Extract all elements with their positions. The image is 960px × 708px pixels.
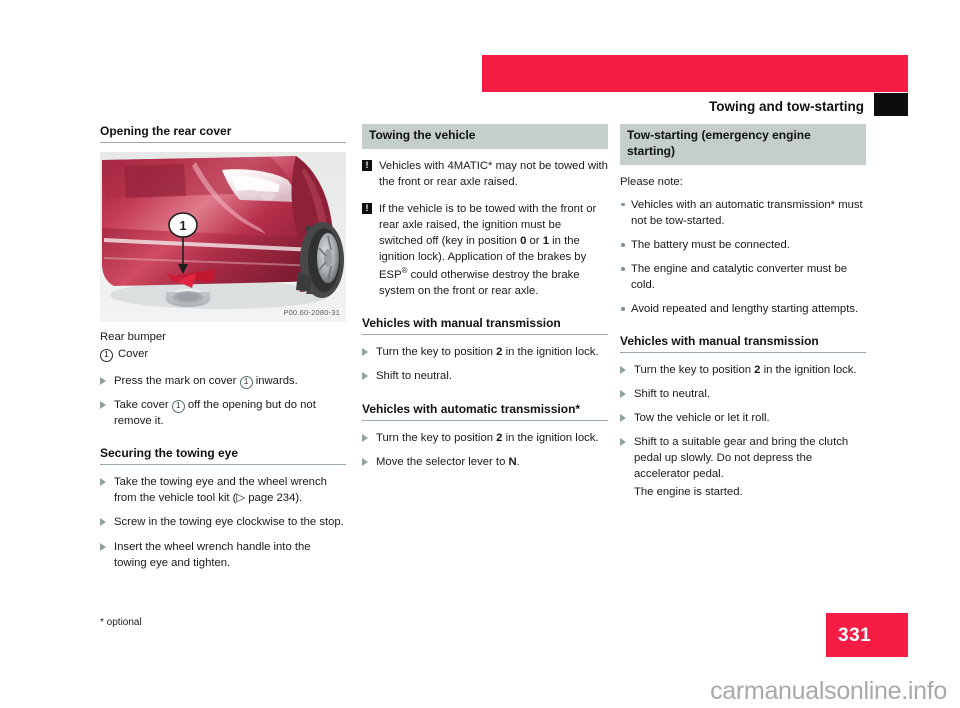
list-item: Move the selector lever to N.: [362, 454, 608, 470]
step-text: Insert the wheel wrench handle into the …: [114, 539, 346, 571]
dot-bullet-icon: [621, 267, 625, 271]
heading-manual-transmission: Vehicles with manual transmission: [362, 316, 608, 335]
heading-securing-towing-eye: Securing the towing eye: [100, 446, 346, 465]
step-result: The engine is started.: [620, 484, 866, 500]
triangle-bullet-icon: [362, 348, 368, 356]
list-item: Shift to neutral.: [362, 368, 608, 384]
watermark: carmanualsonline.info: [710, 677, 947, 706]
list-item: The engine and catalytic converter must …: [620, 261, 866, 293]
list-item: Tow the vehicle or let it roll.: [620, 410, 866, 426]
list-item: Screw in the towing eye clockwise to the…: [100, 514, 346, 530]
heading-tow-starting: Tow-starting (emergency engine starting): [620, 124, 866, 165]
list-item: Avoid repeated and lengthy starting atte…: [620, 301, 866, 317]
step-text: Turn the key to position 2 in the igniti…: [376, 344, 608, 360]
step-text-pre: Take cover: [114, 399, 172, 411]
note-text: The battery must be connected.: [631, 239, 790, 251]
practical-advice-banner: [482, 55, 908, 92]
triangle-bullet-icon: [362, 372, 368, 380]
step-text-pre: Press the mark on cover: [114, 375, 240, 387]
page-number: 331: [838, 625, 871, 647]
list-item: Shift to a suitable gear and bring the c…: [620, 434, 866, 482]
dot-bullet-icon: [621, 243, 625, 247]
please-note-label: Please note:: [620, 174, 866, 190]
warning-text: If the vehicle is to be towed with the f…: [379, 203, 596, 297]
heading-automatic-transmission: Vehicles with automatic transmission*: [362, 402, 608, 421]
left-column: Opening the rear cover: [100, 124, 346, 579]
figure-legend-item-1: 1Cover: [100, 346, 346, 363]
figure-callout-1: 1: [179, 218, 186, 233]
triangle-bullet-icon: [100, 401, 106, 409]
triangle-bullet-icon: [100, 478, 106, 486]
list-item: Take cover 1 off the opening but do not …: [100, 397, 346, 429]
warning-note: ! Vehicles with 4MATIC* may not be towed…: [362, 158, 608, 190]
footnote-optional: * optional: [100, 617, 142, 628]
triangle-bullet-icon: [362, 458, 368, 466]
circled-number-icon: 1: [172, 400, 185, 413]
list-item: Vehicles with an automatic transmission*…: [620, 197, 866, 229]
list-item: Press the mark on cover 1 inwards.: [100, 373, 346, 389]
circled-number-icon: 1: [100, 349, 113, 362]
heading-towing-the-vehicle: Towing the vehicle: [362, 124, 608, 149]
step-text: Turn the key to position 2 in the igniti…: [634, 362, 866, 378]
triangle-bullet-icon: [620, 366, 626, 374]
figure-id-code: P00.60-2080-31: [283, 308, 340, 317]
list-item: Turn the key to position 2 in the igniti…: [362, 430, 608, 446]
step-text: Shift to a suitable gear and bring the c…: [634, 434, 866, 482]
rear-bumper-illustration: 1: [100, 152, 346, 322]
triangle-bullet-icon: [100, 543, 106, 551]
warning-note: ! If the vehicle is to be towed with the…: [362, 201, 608, 299]
heading-manual-transmission: Vehicles with manual transmission: [620, 334, 866, 353]
list-item: Turn the key to position 2 in the igniti…: [362, 344, 608, 360]
triangle-bullet-icon: [620, 390, 626, 398]
step-text: Shift to neutral.: [376, 368, 608, 384]
warning-icon: !: [362, 203, 372, 214]
page-section-title: Towing and tow-starting: [709, 99, 864, 114]
warning-text: Vehicles with 4MATIC* may not be towed w…: [379, 160, 608, 188]
dot-bullet-icon: [621, 307, 625, 311]
triangle-bullet-icon: [100, 518, 106, 526]
right-column: Tow-starting (emergency engine starting)…: [620, 124, 866, 508]
list-item: Take the towing eye and the wheel wrench…: [100, 474, 346, 506]
warning-icon: !: [362, 160, 372, 171]
figure-caption-title: Rear bumper: [100, 329, 346, 345]
step-text: Tow the vehicle or let it roll.: [634, 410, 866, 426]
step-text: Move the selector lever to N.: [376, 454, 608, 470]
middle-column: Towing the vehicle ! Vehicles with 4MATI…: [362, 124, 608, 478]
step-text: Turn the key to position 2 in the igniti…: [376, 430, 608, 446]
step-text: Take the towing eye and the wheel wrench…: [114, 474, 346, 506]
triangle-bullet-icon: [362, 434, 368, 442]
note-text: Avoid repeated and lengthy starting atte…: [631, 303, 858, 315]
dot-bullet-icon: [621, 203, 625, 207]
list-item: Insert the wheel wrench handle into the …: [100, 539, 346, 571]
figure-rear-bumper: 1 P00.60-2080-31: [100, 152, 346, 322]
figure-legend-label: Cover: [118, 348, 148, 360]
step-text: Screw in the towing eye clockwise to the…: [114, 514, 346, 530]
triangle-bullet-icon: [620, 438, 626, 446]
step-text: Shift to neutral.: [634, 386, 866, 402]
chapter-tab-marker: [874, 93, 908, 116]
list-item: Turn the key to position 2 in the igniti…: [620, 362, 866, 378]
list-item: The battery must be connected.: [620, 237, 866, 253]
heading-opening-rear-cover: Opening the rear cover: [100, 124, 346, 143]
circled-number-icon: 1: [240, 376, 253, 389]
triangle-bullet-icon: [620, 414, 626, 422]
banner-title: Practical advice: [804, 8, 919, 25]
triangle-bullet-icon: [100, 377, 106, 385]
page-number-box: 331: [826, 613, 908, 657]
note-text: The engine and catalytic converter must …: [631, 263, 847, 291]
note-text: Vehicles with an automatic transmission*…: [631, 199, 863, 227]
step-result-text: The engine is started.: [634, 484, 866, 500]
step-text-post: inwards.: [253, 375, 298, 387]
list-item: Shift to neutral.: [620, 386, 866, 402]
